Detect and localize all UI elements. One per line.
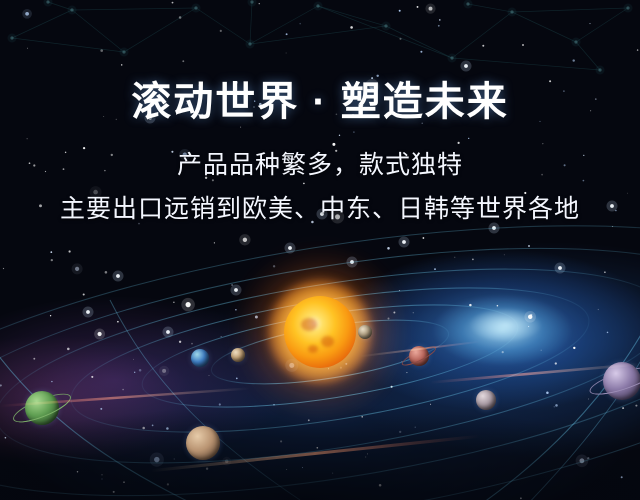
lens-flare-streaks	[0, 0, 640, 500]
banner-subtitle-line-2: 主要出口远销到欧美、中东、日韩等世界各地	[0, 192, 640, 226]
banner-headline: 滚动世界 · 塑造未来	[0, 78, 640, 126]
space-banner: 滚动世界 · 塑造未来 产品品种繁多，款式独特 主要出口远销到欧美、中东、日韩等…	[0, 0, 640, 500]
banner-subtitle-line-1: 产品品种繁多，款式独特	[0, 148, 640, 182]
